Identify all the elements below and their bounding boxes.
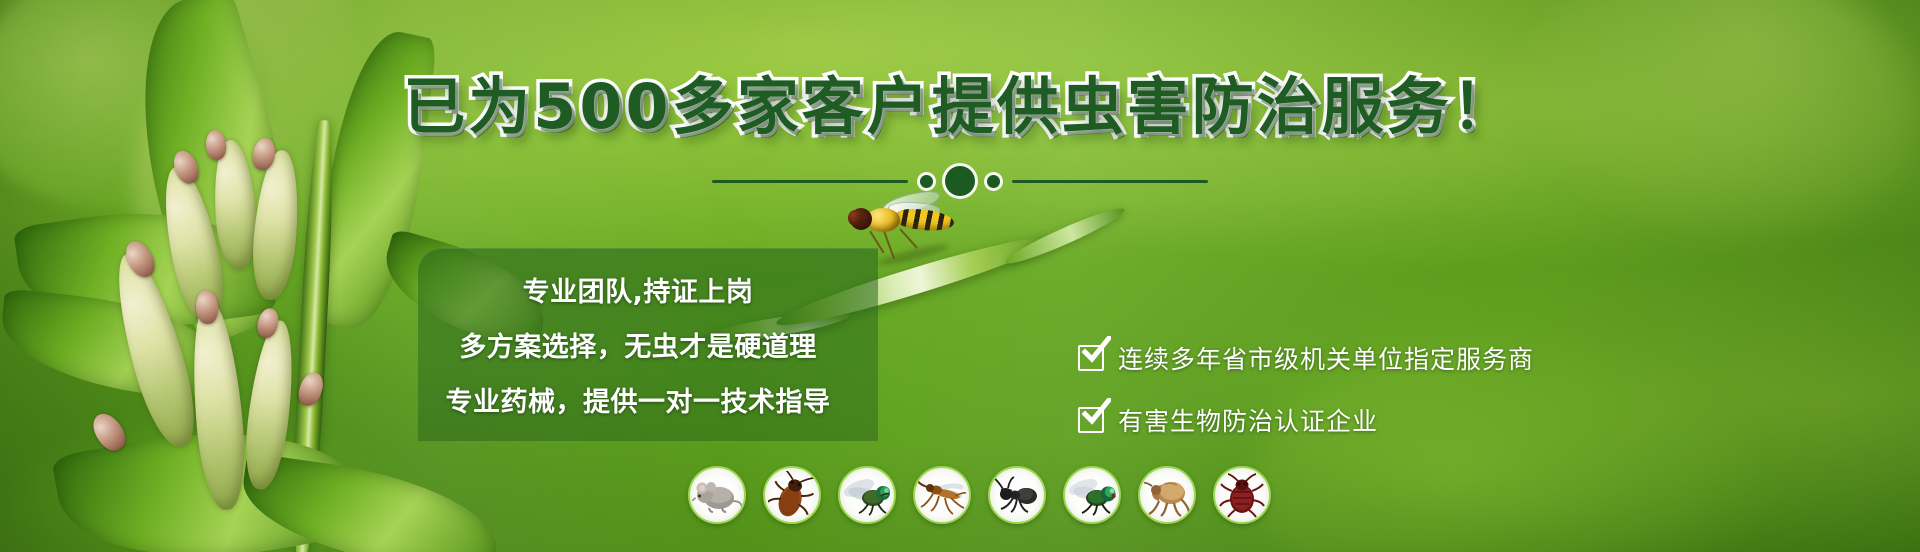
flea-icon[interactable] (1138, 466, 1196, 524)
pest-control-banner: 已为500多家客户提供虫害防治服务！ 专业团队,持证上岗 多方案选择，无虫才是硬… (0, 0, 1920, 552)
mosquito-icon[interactable] (913, 466, 971, 524)
divider-rule-right (1012, 180, 1208, 183)
divider-dot-small-right (987, 175, 1000, 188)
checkbox-checked-icon (1078, 407, 1104, 433)
page-title: 已为500多家客户提供虫害防治服务！ (0, 76, 1920, 138)
hoverfly-icon (840, 196, 960, 256)
mouse-icon[interactable] (688, 466, 746, 524)
feature-line-2: 多方案选择，无虫才是硬道理 (418, 325, 858, 364)
divider-dot-small-left (920, 175, 933, 188)
divider-rule-left (712, 180, 908, 183)
divider-dot-large (945, 166, 975, 196)
credentials-checklist: 连续多年省市级机关单位指定服务商 有害生物防治认证企业 (1078, 340, 1534, 438)
bedbug-icon[interactable] (1213, 466, 1271, 524)
checklist-item: 有害生物防治认证企业 (1078, 402, 1534, 438)
housefly-icon[interactable] (838, 466, 896, 524)
checkbox-checked-icon (1078, 345, 1104, 371)
pest-types-row (688, 466, 1271, 524)
checklist-item: 连续多年省市级机关单位指定服务商 (1078, 340, 1534, 376)
checklist-item-label: 有害生物防治认证企业 (1118, 402, 1378, 438)
decorative-divider (0, 166, 1920, 196)
ant-icon[interactable] (988, 466, 1046, 524)
feature-line-1: 专业团队,持证上岗 (418, 270, 858, 309)
greenfly-icon[interactable] (1063, 466, 1121, 524)
feature-highlight-box: 专业团队,持证上岗 多方案选择，无虫才是硬道理 专业药械，提供一对一技术指导 (418, 248, 878, 441)
cockroach-icon[interactable] (763, 466, 821, 524)
checklist-item-label: 连续多年省市级机关单位指定服务商 (1118, 340, 1534, 376)
feature-line-3: 专业药械，提供一对一技术指导 (418, 380, 858, 419)
